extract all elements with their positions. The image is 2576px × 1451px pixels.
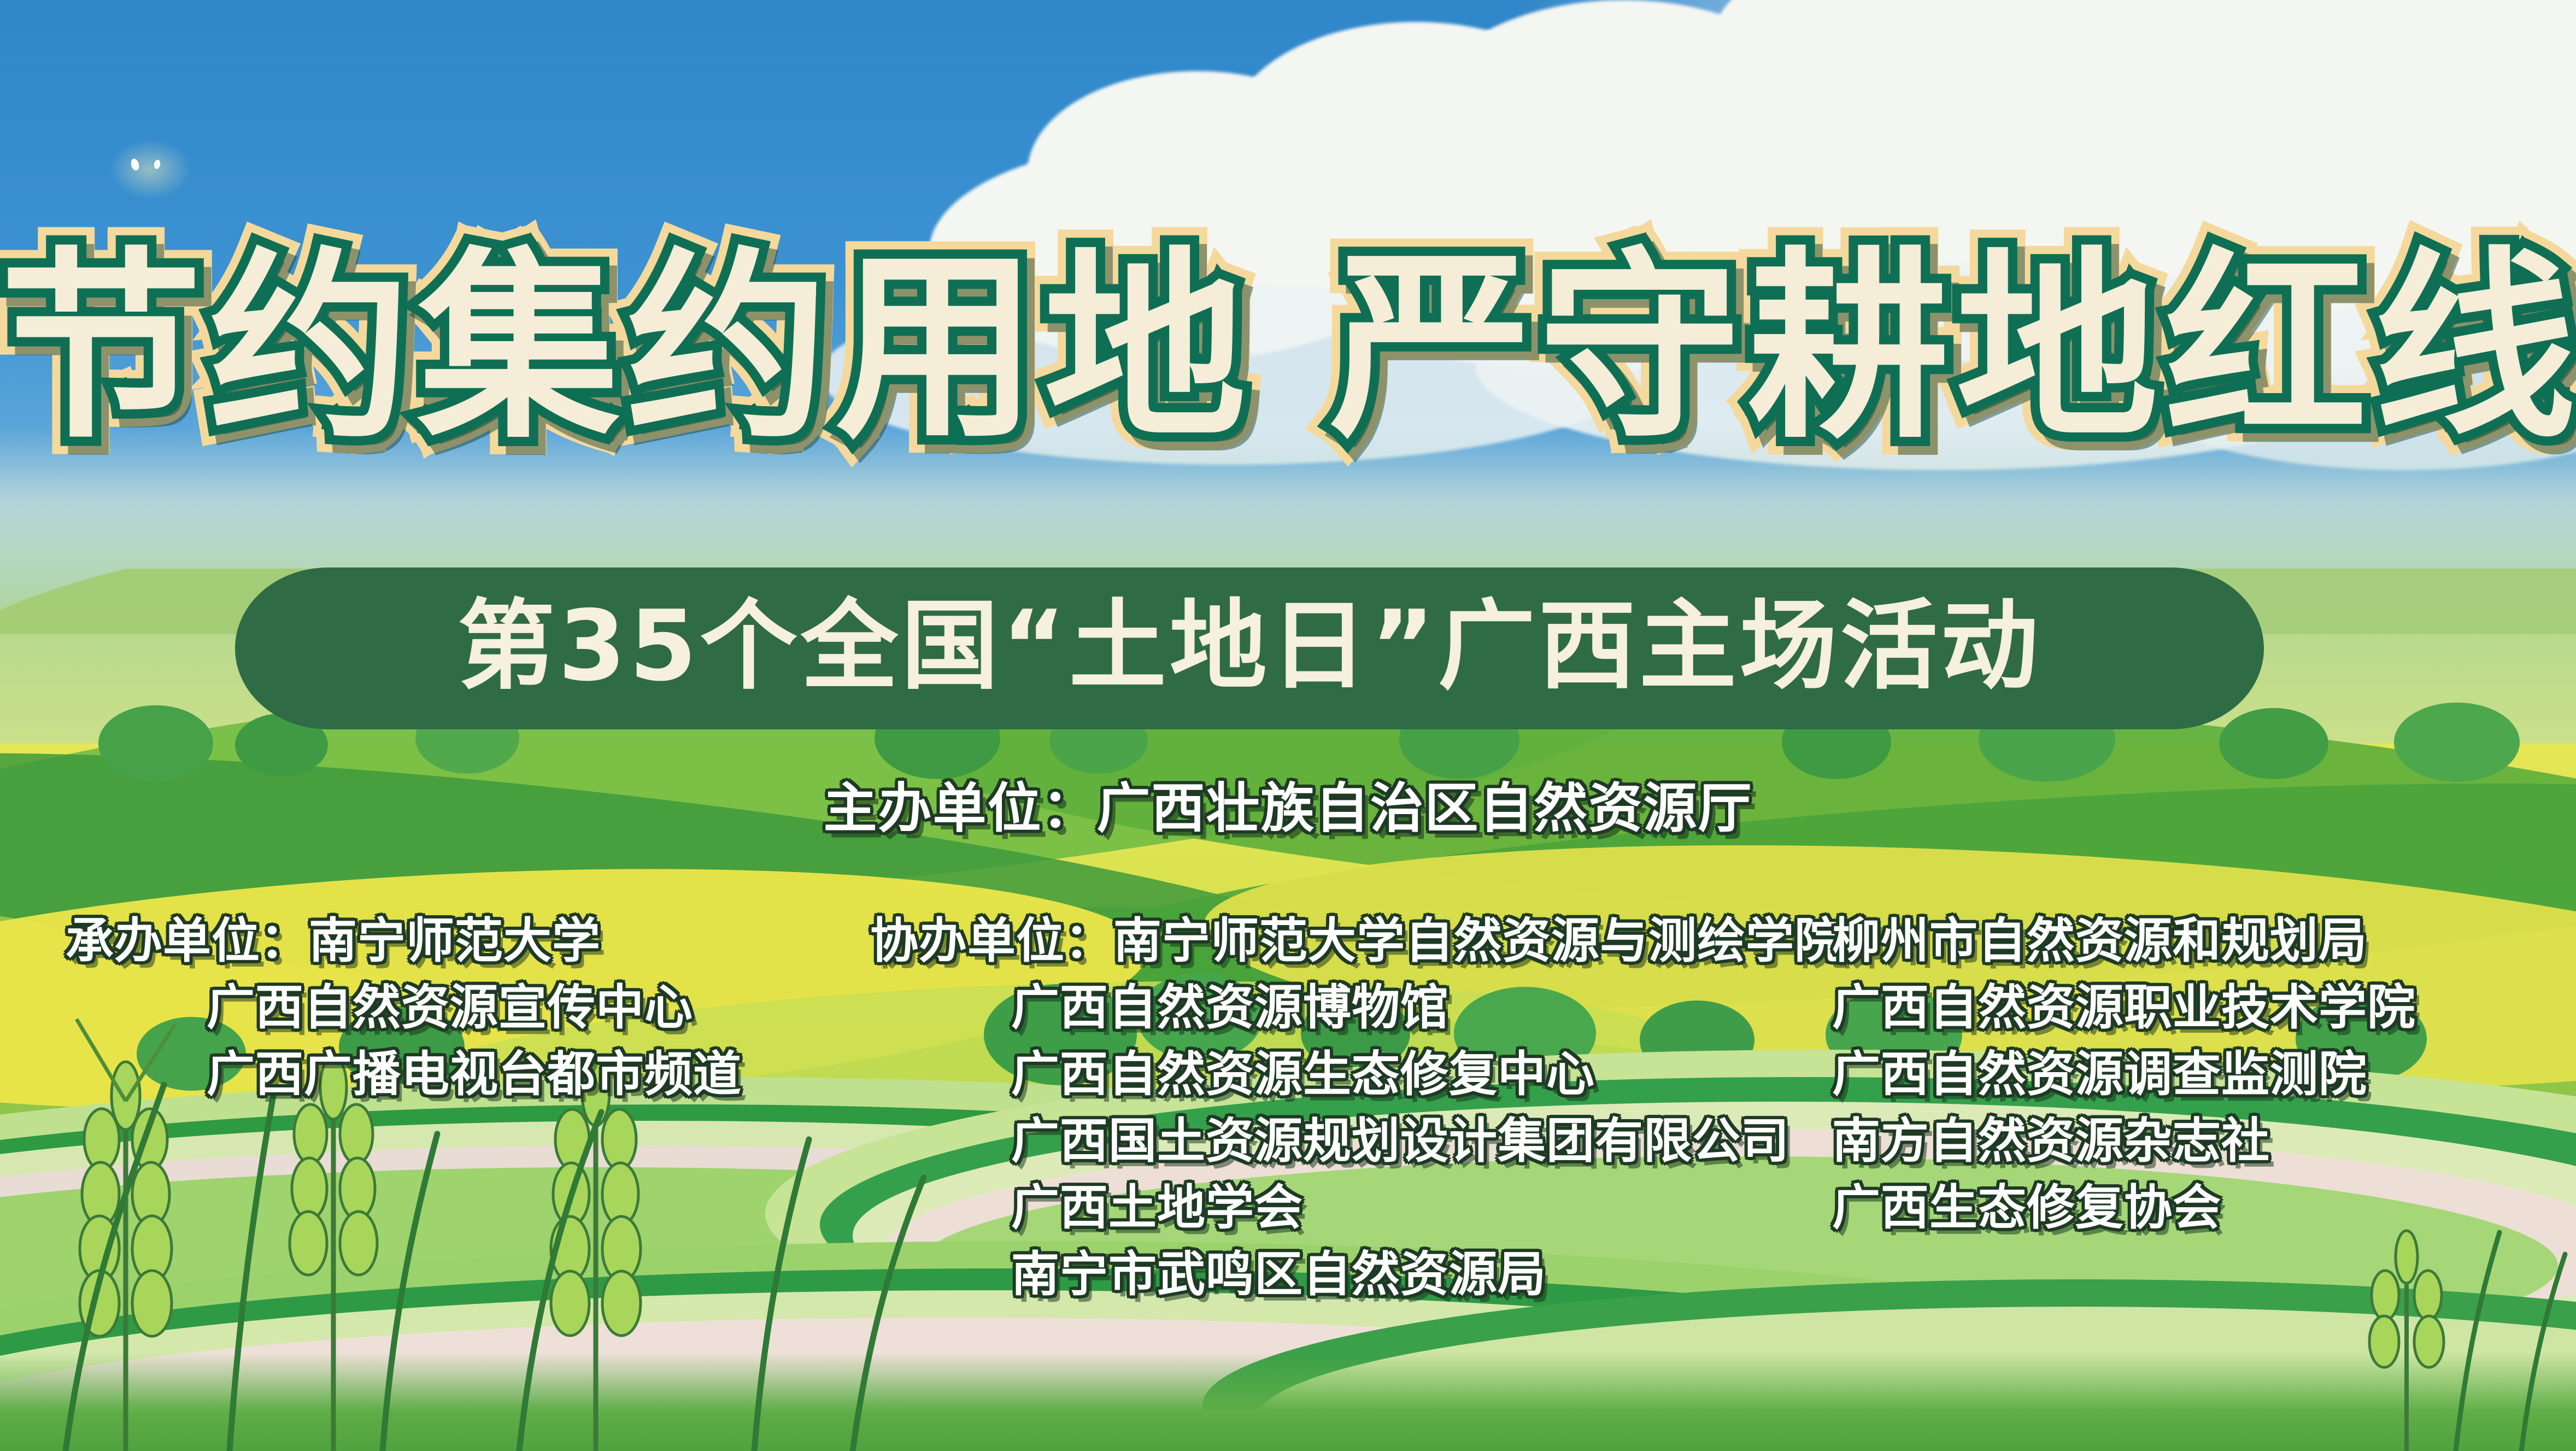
organizers-item: 广西自然资源宣传中心 [66,974,742,1041]
organizers-label: 承办单位： [66,912,309,969]
credits-block: 主办单位：广西壮族自治区自然资源厅 承办单位：南宁师范大学 广西自然资源宣传中心… [0,782,2576,1329]
bird-glow [109,139,191,200]
co-organizers-item: 广西自然资源博物馆 [870,974,1843,1041]
co-organizers-right-item: 柳州市自然资源和规划局 [1832,908,2416,974]
organizers-first-item: 南宁师范大学 [309,912,601,969]
co-organizers-right-item: 南方自然资源杂志社 [1832,1108,2416,1174]
main-title-block: 节约集约用地 严守耕地红线 节约集约用地 严守耕地红线 节约集约用地 严守耕地红… [0,247,2576,449]
co-organizers-item: 广西土地学会 [870,1174,1843,1241]
co-organizers-item: 广西自然资源生态修复中心 [870,1041,1843,1108]
poster-root: 节约集约用地 严守耕地红线 节约集约用地 严守耕地红线 节约集约用地 严守耕地红… [0,0,2576,1451]
co-organizers-label: 协办单位： [870,912,1113,969]
co-organizers-item: 南宁市武鸣区自然资源局 [870,1241,1843,1308]
co-organizers-item: 广西国土资源规划设计集团有限公司 [870,1108,1843,1174]
co-organizers-right-item: 广西自然资源职业技术学院 [1832,974,2416,1041]
co-organizers-first-line: 协办单位：南宁师范大学自然资源与测绘学院 [870,908,1843,974]
organizers-column: 承办单位：南宁师范大学 广西自然资源宣传中心 广西广播电视台都市频道 [66,908,742,1108]
co-organizers-column: 协办单位：南宁师范大学自然资源与测绘学院 广西自然资源博物馆 广西自然资源生态修… [870,908,1843,1308]
co-organizers-right-item: 广西生态修复协会 [1832,1174,2416,1241]
organizers-item: 广西广播电视台都市频道 [66,1041,742,1108]
co-organizers-right-column: 柳州市自然资源和规划局 广西自然资源职业技术学院 广西自然资源调查监测院 南方自… [1832,908,2416,1241]
main-title-text: 节约集约用地 严守耕地红线 [0,231,2576,466]
subtitle-banner-text: 第35个全国“土地日”广西主场活动 [457,598,2041,695]
organizers-first-line: 承办单位：南宁师范大学 [66,908,742,974]
subtitle-banner: 第35个全国“土地日”广西主场活动 [235,567,2264,729]
host-organizer-line: 主办单位：广西壮族自治区自然资源厅 [0,782,2576,835]
co-organizers-right-item: 广西自然资源调查监测院 [1832,1041,2416,1108]
main-title-stack: 节约集约用地 严守耕地红线 节约集约用地 严守耕地红线 节约集约用地 严守耕地红… [0,247,2576,449]
co-organizers-first-item: 南宁师范大学自然资源与测绘学院 [1113,912,1843,969]
